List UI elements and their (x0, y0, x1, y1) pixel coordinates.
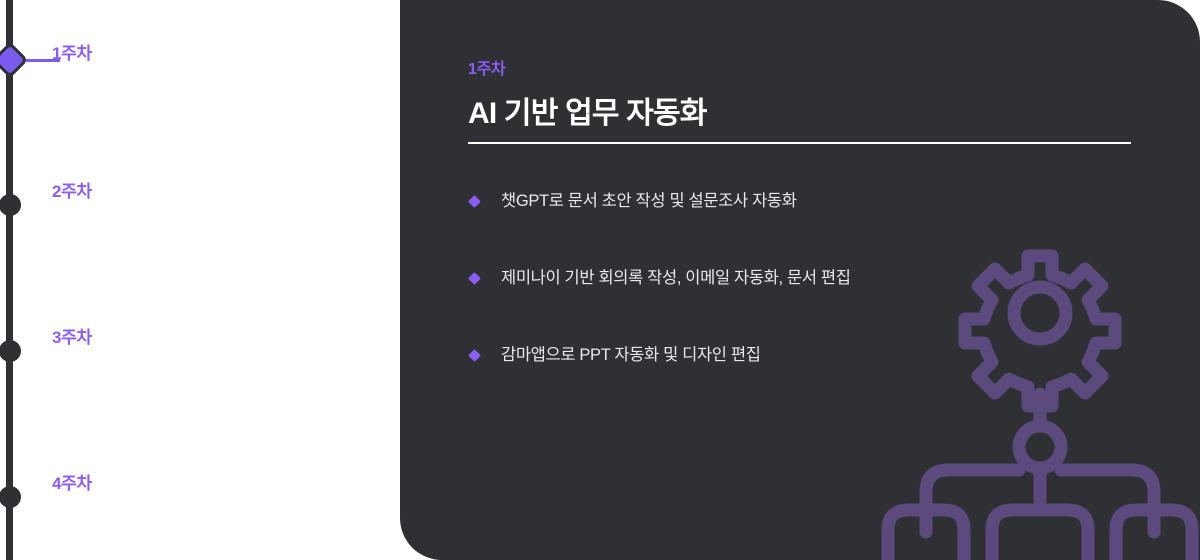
circle-marker-icon (0, 486, 21, 508)
circle-marker-icon (0, 194, 21, 216)
diamond-bullet-icon (468, 272, 481, 285)
timeline-label-week-3: 3주차 (52, 323, 92, 348)
timeline-vertical-line (6, 0, 13, 560)
week-detail-card: 1주차 AI 기반 업무 자동화 챗GPT로 문서 초안 작성 및 설문조사 자… (400, 0, 1200, 560)
card-bullet-list: 챗GPT로 문서 초안 작성 및 설문조사 자동화 제미나이 기반 회의록 작성… (468, 190, 1158, 367)
diamond-bullet-icon (468, 349, 481, 362)
timeline-label-week-2: 2주차 (52, 177, 92, 202)
list-item-text: 제미나이 기반 회의록 작성, 이메일 자동화, 문서 편집 (501, 269, 851, 287)
timeline-rail: 1주차 2주차 3주차 4주차 (0, 0, 400, 560)
card-divider (468, 142, 1131, 144)
diamond-marker-icon (0, 46, 24, 74)
timeline-curriculum-slide: 1주차 2주차 3주차 4주차 (0, 0, 1200, 560)
timeline-label-week-4: 4주차 (52, 469, 92, 494)
list-item-text: 챗GPT로 문서 초안 작성 및 설문조사 자동화 (501, 192, 797, 210)
list-item: 제미나이 기반 회의록 작성, 이메일 자동화, 문서 편집 (468, 267, 1158, 290)
timeline-label-week-1: 1주차 (52, 39, 92, 64)
list-item: 챗GPT로 문서 초안 작성 및 설문조사 자동화 (468, 190, 1158, 213)
list-item: 감마앱으로 PPT 자동화 및 디자인 편집 (468, 344, 1158, 367)
circle-marker-icon (0, 340, 21, 362)
card-title: AI 기반 업무 자동화 (468, 88, 707, 132)
diamond-bullet-icon (468, 195, 481, 208)
list-item-text: 감마앱으로 PPT 자동화 및 디자인 편집 (501, 346, 761, 364)
card-eyebrow-week-label: 1주차 (468, 55, 505, 79)
